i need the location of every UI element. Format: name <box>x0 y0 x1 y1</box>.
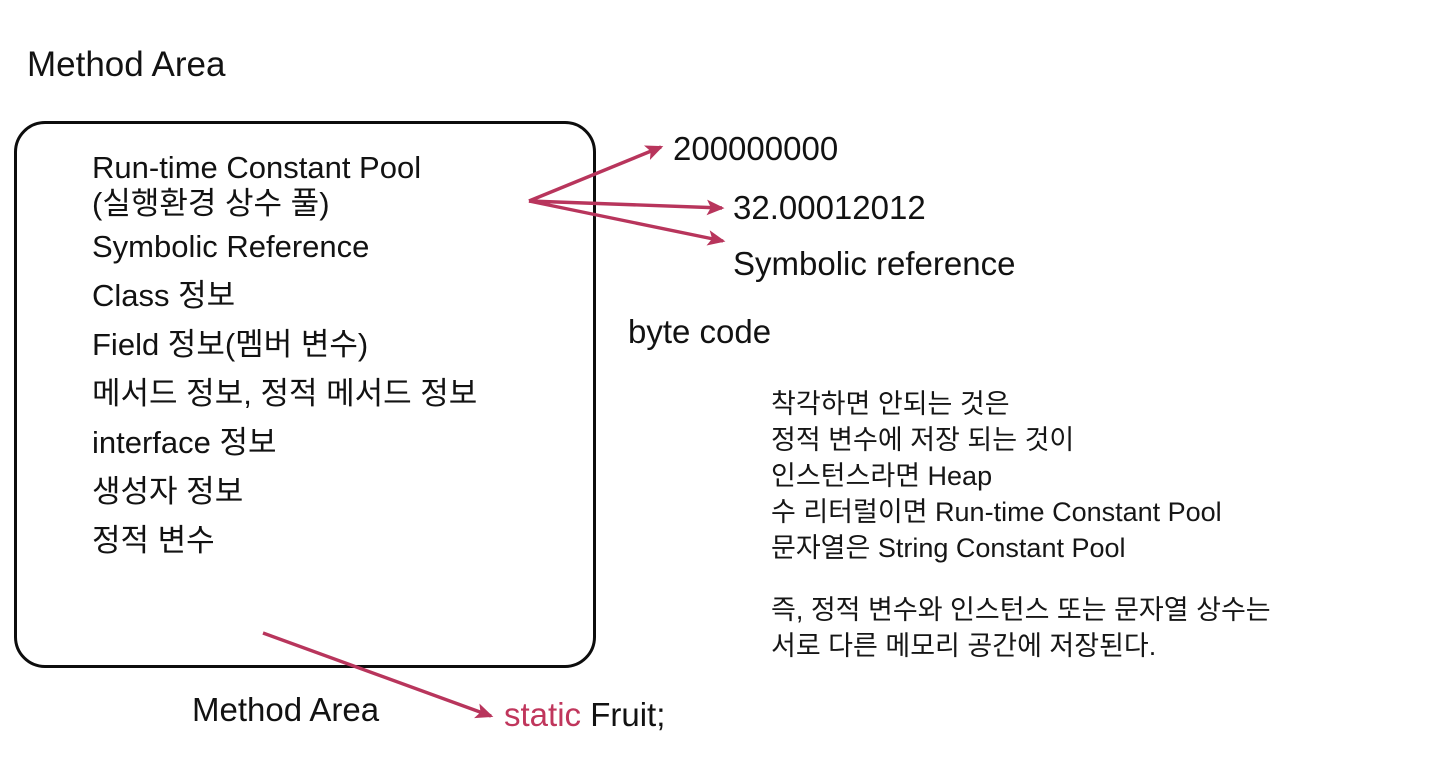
note-line-1: 착각하면 안되는 것은 <box>771 386 1391 422</box>
method-area-item-runtime-constant-pool-korean: (실행환경 상수 풀) <box>92 186 592 222</box>
method-area-item-interface-info: interface 정보 <box>92 424 592 462</box>
byte-code-label: byte code <box>628 312 771 352</box>
method-area-item-field-info: Field 정보(멤버 변수) <box>92 326 592 364</box>
method-area-item-class-info: Class 정보 <box>92 277 592 315</box>
page-title: Method Area <box>27 44 225 86</box>
bottom-method-area-label: Method Area <box>192 690 379 730</box>
explanatory-note-block: 착각하면 안되는 것은 정적 변수에 저장 되는 것이 인스턴스라면 Heap … <box>771 386 1391 664</box>
method-area-item-static-variable: 정적 변수 <box>92 522 592 560</box>
note-line-4: 수 리터럴이면 Run-time Constant Pool <box>771 494 1391 530</box>
pool-value-integer-literal: 200000000 <box>673 129 838 169</box>
method-area-item-runtime-constant-pool: Run-time Constant Pool <box>92 150 592 186</box>
static-field-name: Fruit; <box>581 696 665 733</box>
static-field-declaration: static Fruit; <box>504 695 665 735</box>
static-keyword: static <box>504 696 581 733</box>
note-line-5: 문자열은 String Constant Pool <box>771 530 1391 566</box>
method-area-item-symbolic-reference: Symbolic Reference <box>92 228 592 266</box>
note-paragraph-spacer <box>771 566 1391 592</box>
note-line-2: 정적 변수에 저장 되는 것이 <box>771 422 1391 458</box>
pool-value-symbolic-reference: Symbolic reference <box>733 244 1015 284</box>
method-area-item-list: Run-time Constant Pool (실행환경 상수 풀) Symbo… <box>92 150 592 560</box>
note-line-6: 즉, 정적 변수와 인스턴스 또는 문자열 상수는 <box>771 592 1391 628</box>
note-line-3: 인스턴스라면 Heap <box>771 458 1391 494</box>
method-area-item-method-info: 메서드 정보, 정적 메서드 정보 <box>92 375 592 413</box>
method-area-item-constructor-info: 생성자 정보 <box>92 473 592 511</box>
note-line-7: 서로 다른 메모리 공간에 저장된다. <box>771 628 1391 664</box>
pool-value-float-literal: 32.00012012 <box>733 188 926 228</box>
diagram-canvas: Method Area Run-time Constant Pool (실행환경… <box>0 0 1442 778</box>
